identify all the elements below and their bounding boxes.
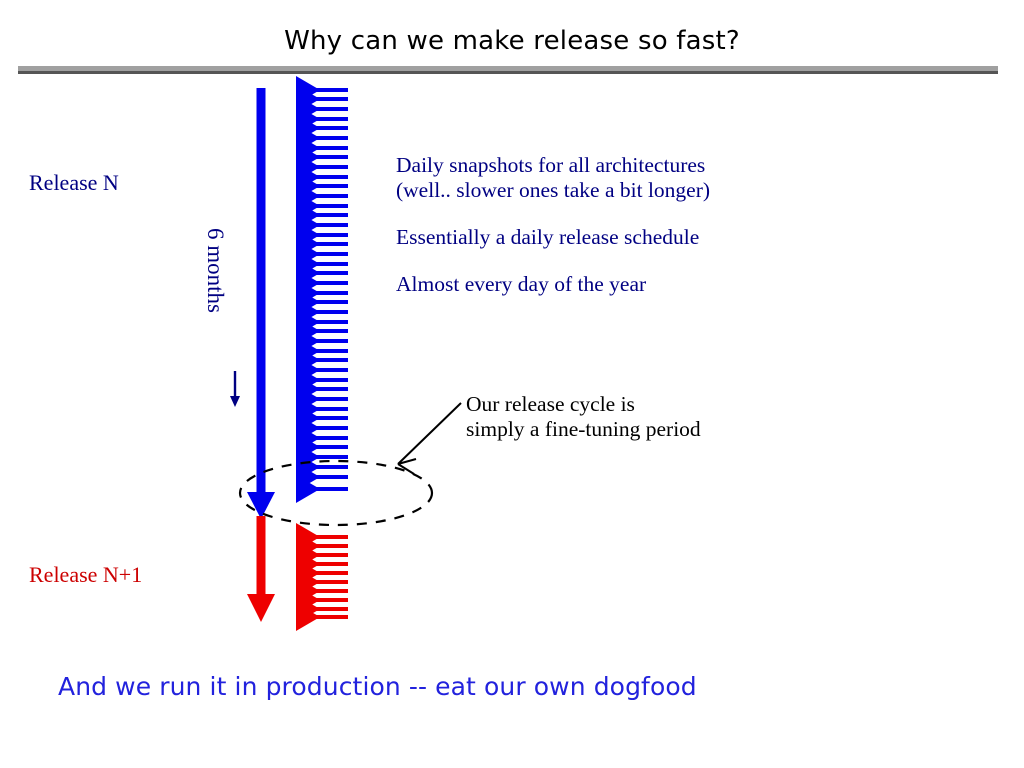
label-release-n-plus-1: Release N+1: [29, 562, 142, 588]
annotation-line-2: simply a fine-tuning period: [466, 417, 806, 442]
slide-slogan: And we run it in production -- eat our o…: [58, 672, 697, 701]
bullet-paragraph-2: Essentially a daily release schedule: [396, 225, 836, 250]
bullet-line: (well.. slower ones take a bit longer): [396, 178, 836, 203]
label-duration: 6 months: [202, 228, 228, 313]
bullet-line: Daily snapshots for all architectures: [396, 153, 836, 178]
bullet-line: Essentially a daily release schedule: [396, 225, 836, 250]
bullet-paragraph-1: Daily snapshots for all architectures (w…: [396, 153, 836, 203]
red-timeline-arrow: [247, 516, 275, 622]
red-snapshot-arrows: [296, 537, 348, 617]
duration-arrow-icon: [230, 371, 240, 407]
bullet-line: Almost every day of the year: [396, 272, 836, 297]
bullet-paragraph-3: Almost every day of the year: [396, 272, 836, 297]
label-release-n: Release N: [29, 170, 119, 196]
blue-timeline-arrow: [247, 88, 275, 519]
blue-snapshot-arrows: [296, 90, 348, 477]
annotation-line-1: Our release cycle is: [466, 392, 806, 417]
annotation-text: Our release cycle is simply a fine-tunin…: [466, 392, 806, 442]
bullet-text-block: Daily snapshots for all architectures (w…: [396, 153, 836, 297]
annotation-leader-line: [398, 403, 461, 474]
slide-canvas: Why can we make release so fast?: [0, 0, 1024, 768]
release-timeline-diagram: [0, 0, 1024, 768]
